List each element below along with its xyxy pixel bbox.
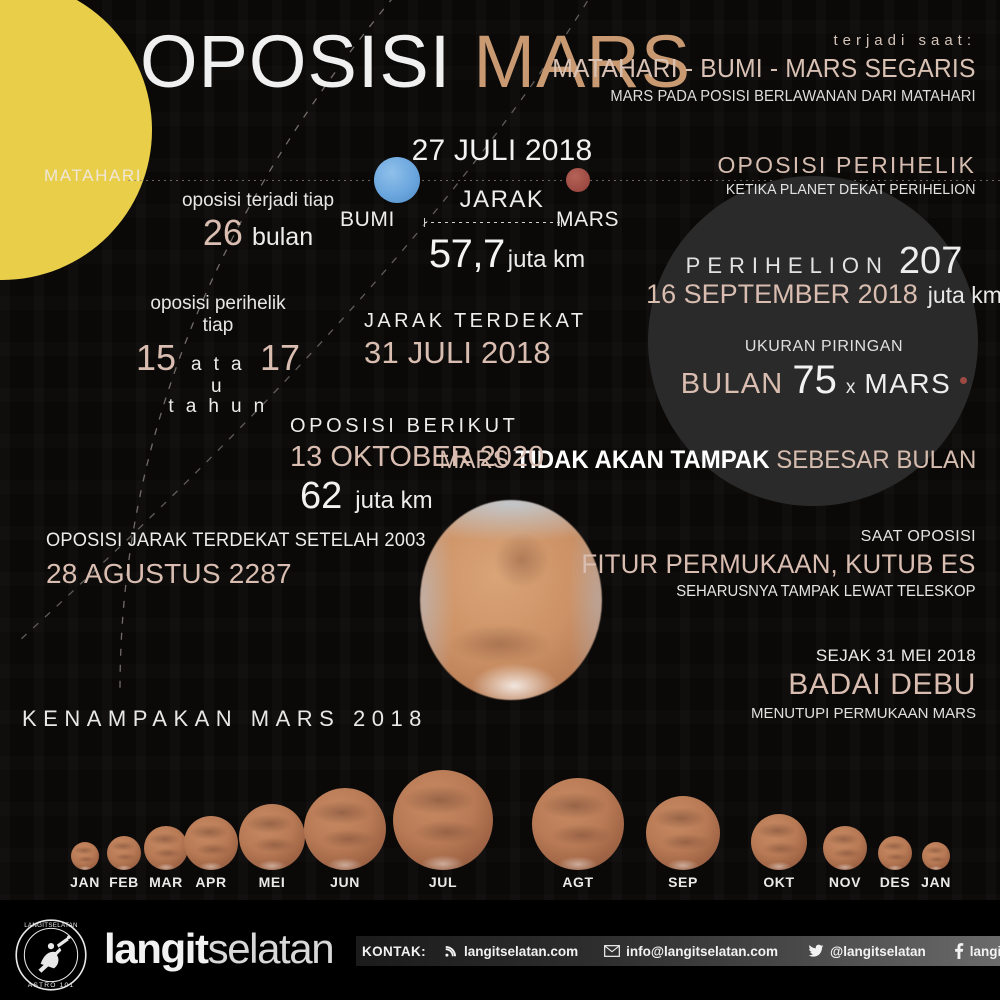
perihelion-stat-block: PERIHELION 207 16 SEPTEMBER 2018 juta km <box>668 240 980 310</box>
envelope-icon <box>604 945 620 957</box>
mars-month-disc <box>878 836 912 870</box>
kontak-label: KONTAK: <box>362 944 426 959</box>
distance-measure-bar <box>424 218 562 227</box>
svg-text:LANGITSELATAN: LANGITSELATAN <box>24 922 78 929</box>
distance-value-block: 57,7 juta km <box>402 232 612 277</box>
disc-mars-label: MARS <box>864 368 951 400</box>
langitselatan-logo-icon: LANGITSELATAN ASTRO 101 <box>14 918 88 992</box>
mars-month-disc <box>823 826 867 870</box>
warning-tail: SEBESAR BULAN <box>776 446 976 474</box>
perihelic-frequency-caption: oposisi perihelik tiap <box>136 293 300 337</box>
month-label: APR <box>195 874 226 890</box>
title-part-oposisi: OPOSISI <box>140 20 451 103</box>
facebook-link[interactable]: langitselatan <box>954 943 1000 959</box>
website-text: langitselatan.com <box>464 944 578 959</box>
mars-month-disc <box>646 796 720 870</box>
perihelic-frequency-block: oposisi perihelik tiap 15 a t a u 17 t a… <box>136 293 300 418</box>
terjadi-saat-kicker: terjadi saat: <box>530 32 976 49</box>
svg-text:ASTRO 101: ASTRO 101 <box>28 982 75 989</box>
mars-month-disc <box>107 836 141 870</box>
dust-storm-subtext: MENUTUPI PERMUKAAN MARS <box>751 705 976 722</box>
rss-icon <box>444 944 458 958</box>
month-label: OKT <box>763 874 794 890</box>
frequency-caption: oposisi terjadi tiap <box>178 190 338 212</box>
mars-month-disc <box>144 826 188 870</box>
month-label: JAN <box>70 874 100 890</box>
infographic-poster: MATAHARI OPOSISIMARS terjadi saat: MATAH… <box>0 0 1000 1000</box>
dust-storm-headline: BADAI DEBU <box>751 668 976 702</box>
alignment-headline: MATAHARI - BUMI - MARS SEGARIS <box>553 53 976 84</box>
contact-links: KONTAK: langitselatan.com info@langitsel… <box>362 936 1000 966</box>
disc-size-caption: UKURAN PIRINGAN <box>668 338 980 356</box>
wordmark-bold: langit <box>104 925 208 972</box>
email-link[interactable]: info@langitselatan.com <box>604 944 778 959</box>
disc-size-block: UKURAN PIRINGAN BULAN 75 x MARS <box>668 338 980 403</box>
month-label: FEB <box>109 874 139 890</box>
closest-after-2003-block: OPOSISI JARAK TERDEKAT SETELAH 2003 28 A… <box>46 530 442 590</box>
month-label: JUL <box>429 874 457 890</box>
mars-month-disc <box>239 804 305 870</box>
perihelion-date: 16 SEPTEMBER 2018 <box>646 279 918 310</box>
frequency-unit: bulan <box>252 223 313 252</box>
dust-storm-block: SEJAK 31 MEI 2018 BADAI DEBU MENUTUPI PE… <box>751 646 976 722</box>
facebook-icon <box>954 943 964 959</box>
next-opposition-unit: juta km <box>355 487 432 515</box>
twitter-icon <box>808 944 824 958</box>
month-label: JUN <box>330 874 360 890</box>
next-opposition-heading: OPOSISI BERIKUT <box>290 415 544 438</box>
mars-label: MARS <box>556 208 619 232</box>
closest-heading: JARAK TERDEKAT <box>364 310 586 333</box>
mars-month-disc <box>184 816 238 870</box>
twitter-link[interactable]: @langitselatan <box>808 944 926 959</box>
perihelic-frequency-unit: t a h u n <box>136 396 300 418</box>
mars-month-disc <box>751 814 807 870</box>
appearance-heading: KENAMPAKAN MARS 2018 <box>22 706 428 732</box>
distance-unit: juta km <box>508 246 585 274</box>
opposition-frequency-block: oposisi terjadi tiap 26 bulan <box>178 190 338 254</box>
sun-disc <box>0 0 152 280</box>
month-label: NOV <box>829 874 861 890</box>
mars-size-dot-icon <box>960 377 967 384</box>
opposition-date: 27 JULI 2018 <box>402 134 602 168</box>
surface-headline: FITUR PERMUKAAN, KUTUB ES <box>582 549 976 580</box>
perihelic-value-low: 15 <box>136 337 176 379</box>
mars-size-chart <box>0 752 1000 872</box>
earth-label: BUMI <box>340 208 395 232</box>
mars-month-disc <box>304 788 386 870</box>
next-opposition-distance: 62 <box>300 475 342 518</box>
wordmark-light: selatan <box>208 925 334 972</box>
mars-month-disc <box>71 842 99 870</box>
month-label: AGT <box>562 874 593 890</box>
email-text: info@langitselatan.com <box>626 944 778 959</box>
twitter-text: @langitselatan <box>830 944 926 959</box>
surface-features-block: SAAT OPOSISI FITUR PERMUKAAN, KUTUB ES S… <box>565 528 976 601</box>
opposition-definition-block: terjadi saat: MATAHARI - BUMI - MARS SEG… <box>530 32 976 106</box>
frequency-value: 26 <box>203 212 243 254</box>
closest-after-2003-heading: OPOSISI JARAK TERDEKAT SETELAH 2003 <box>46 530 426 552</box>
perihelic-value-high: 17 <box>260 337 300 379</box>
surface-kicker: SAAT OPOSISI <box>565 528 976 546</box>
closest-distance-block: JARAK TERDEKAT 31 JULI 2018 <box>364 310 586 371</box>
warning-emphasis: TIDAK AKAN TAMPAK <box>515 446 769 474</box>
disc-size-factor: 75 <box>792 358 837 403</box>
disc-moon-label: BULAN <box>681 368 784 401</box>
mars-month-disc <box>922 842 950 870</box>
disc-times-symbol: x <box>846 377 856 399</box>
closest-after-2003-date: 28 AGUSTUS 2287 <box>46 558 442 590</box>
alignment-subtext: MARS PADA POSISI BERLAWANAN DARI MATAHAR… <box>553 88 976 106</box>
month-label: MEI <box>259 874 286 890</box>
perihelion-distance-value: 207 <box>899 240 962 283</box>
perihelic-opposition-heading-block: OPOSISI PERIHELIK KETIKA PLANET DEKAT PE… <box>710 152 976 198</box>
facebook-text: langitselatan <box>970 944 1000 959</box>
closest-date: 31 JULI 2018 <box>364 335 586 371</box>
perihelion-word: PERIHELION <box>686 253 889 279</box>
sun-label: MATAHARI <box>44 166 142 186</box>
mars-month-disc <box>393 770 493 870</box>
website-link[interactable]: langitselatan.com <box>444 944 578 959</box>
surface-subtext: SEHARUSNYA TAMPAK LEWAT TELESKOP <box>582 583 976 601</box>
next-opposition-date: 13 OKTOBER 2020 <box>290 441 544 474</box>
perihelic-heading: OPOSISI PERIHELIK <box>710 152 976 179</box>
perihelion-distance-unit: juta km <box>928 282 1000 309</box>
month-label: JAN <box>921 874 951 890</box>
distance-number: 57,7 <box>429 232 505 277</box>
perihelic-subheading: KETIKA PLANET DEKAT PERIHELION <box>726 181 976 198</box>
month-label: MAR <box>149 874 183 890</box>
dust-storm-kicker: SEJAK 31 MEI 2018 <box>751 646 976 666</box>
month-labels: JANFEBMARAPRMEIJUNJULAGTSEPOKTNOVDESJAN <box>0 874 1000 898</box>
langitselatan-wordmark: langitselatan <box>104 925 333 973</box>
month-label: DES <box>880 874 911 890</box>
month-label: SEP <box>668 874 698 890</box>
mars-month-disc <box>532 778 624 870</box>
perihelic-or-word: a t a u <box>182 354 254 398</box>
